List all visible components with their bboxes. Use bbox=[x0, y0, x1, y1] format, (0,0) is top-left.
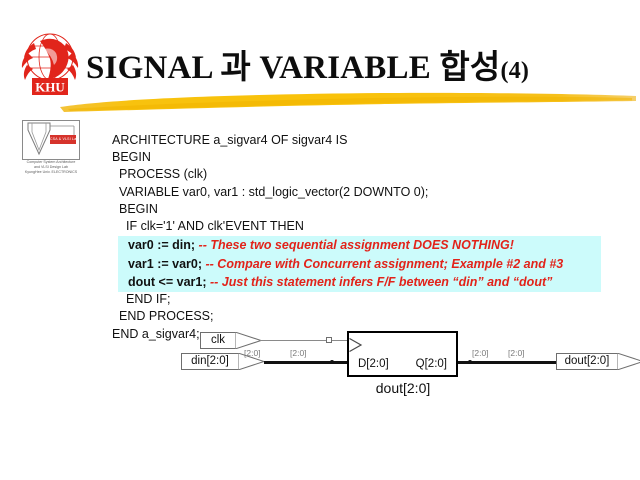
code-statement: var1 := var0; bbox=[128, 257, 202, 271]
ff-instance-caption: dout[2:0] bbox=[338, 380, 468, 396]
input-port-clk: clk bbox=[200, 332, 236, 349]
code-line: BEGIN bbox=[112, 201, 632, 218]
code-statement: dout <= var1; bbox=[128, 275, 207, 289]
slide-title-number: (4) bbox=[501, 58, 530, 84]
highlighted-line: var1 := var0; -- Compare with Concurrent… bbox=[128, 255, 638, 274]
highlighted-line: var0 := din; -- These two sequential ass… bbox=[128, 236, 638, 255]
highlighted-line: dout <= var1; -- Just this statement inf… bbox=[128, 273, 638, 292]
wire-dout-bus bbox=[458, 361, 558, 364]
bus-label: [2:0] bbox=[472, 348, 489, 358]
ff-clock-edge-triangle bbox=[349, 338, 365, 352]
wire-clk bbox=[260, 340, 348, 341]
bus-label: [2:0] bbox=[508, 348, 525, 358]
lab-logo-badge-text: CSA & VLSI Lab bbox=[50, 135, 76, 144]
flipflop-schematic: clk din[2:0] [2:0] [2:0] D[2:0] Q[2:0] d… bbox=[180, 322, 640, 417]
input-port-clk-label: clk bbox=[211, 334, 225, 346]
lab-logo-badge: CSA & VLSI Lab bbox=[50, 135, 76, 144]
lab-logo-caption: Computer System Architecture and VLSI De… bbox=[20, 160, 82, 176]
output-port-dout-arrow bbox=[617, 353, 640, 370]
code-comment: -- These two sequential assignment DOES … bbox=[199, 238, 514, 252]
khu-university-emblem: KHU bbox=[14, 27, 86, 99]
code-line: PROCESS (clk) bbox=[112, 166, 632, 183]
code-statement: var0 := din; bbox=[128, 238, 195, 252]
code-line: ARCHITECTURE a_sigvar4 OF sigvar4 IS bbox=[112, 132, 632, 149]
code-line: IF clk='1' AND clk'EVENT THEN bbox=[112, 218, 632, 235]
input-port-din: din[2:0] bbox=[181, 353, 239, 370]
input-port-din-label: din[2:0] bbox=[191, 355, 229, 367]
ff-pin-d: D[2:0] bbox=[358, 358, 389, 370]
wire-clk-junction bbox=[326, 337, 332, 343]
code-comment: -- Compare with Concurrent assignment; E… bbox=[206, 257, 564, 271]
highlighted-code-lines: var0 := din; -- These two sequential ass… bbox=[128, 236, 638, 292]
bus-label: [2:0] bbox=[290, 348, 307, 358]
lab-logo: CSA & VLSI Lab Computer System Architect… bbox=[20, 120, 82, 180]
code-line: VARIABLE var0, var1 : std_logic_vector(2… bbox=[112, 184, 632, 201]
gold-swoosh-divider bbox=[58, 90, 640, 116]
code-line: BEGIN bbox=[112, 149, 632, 166]
code-line: END IF; bbox=[112, 291, 632, 308]
slide-title-text: SIGNAL 과 VARIABLE 합성 bbox=[86, 50, 501, 86]
wire-dout-junction bbox=[468, 360, 472, 364]
wire-din-bus bbox=[264, 361, 348, 364]
slide-title: SIGNAL 과 VARIABLE 합성(4) bbox=[86, 45, 634, 93]
output-port-dout-label: dout[2:0] bbox=[565, 355, 610, 367]
wire-din-junction bbox=[330, 360, 334, 364]
lab-logo-caption-line3: KyungHee Univ. ELECTRONICS bbox=[20, 170, 82, 175]
output-port-dout: dout[2:0] bbox=[556, 353, 618, 370]
code-comment: -- Just this statement infers F/F betwee… bbox=[210, 275, 552, 289]
ff-pin-q: Q[2:0] bbox=[416, 358, 447, 370]
bus-label: [2:0] bbox=[244, 348, 261, 358]
